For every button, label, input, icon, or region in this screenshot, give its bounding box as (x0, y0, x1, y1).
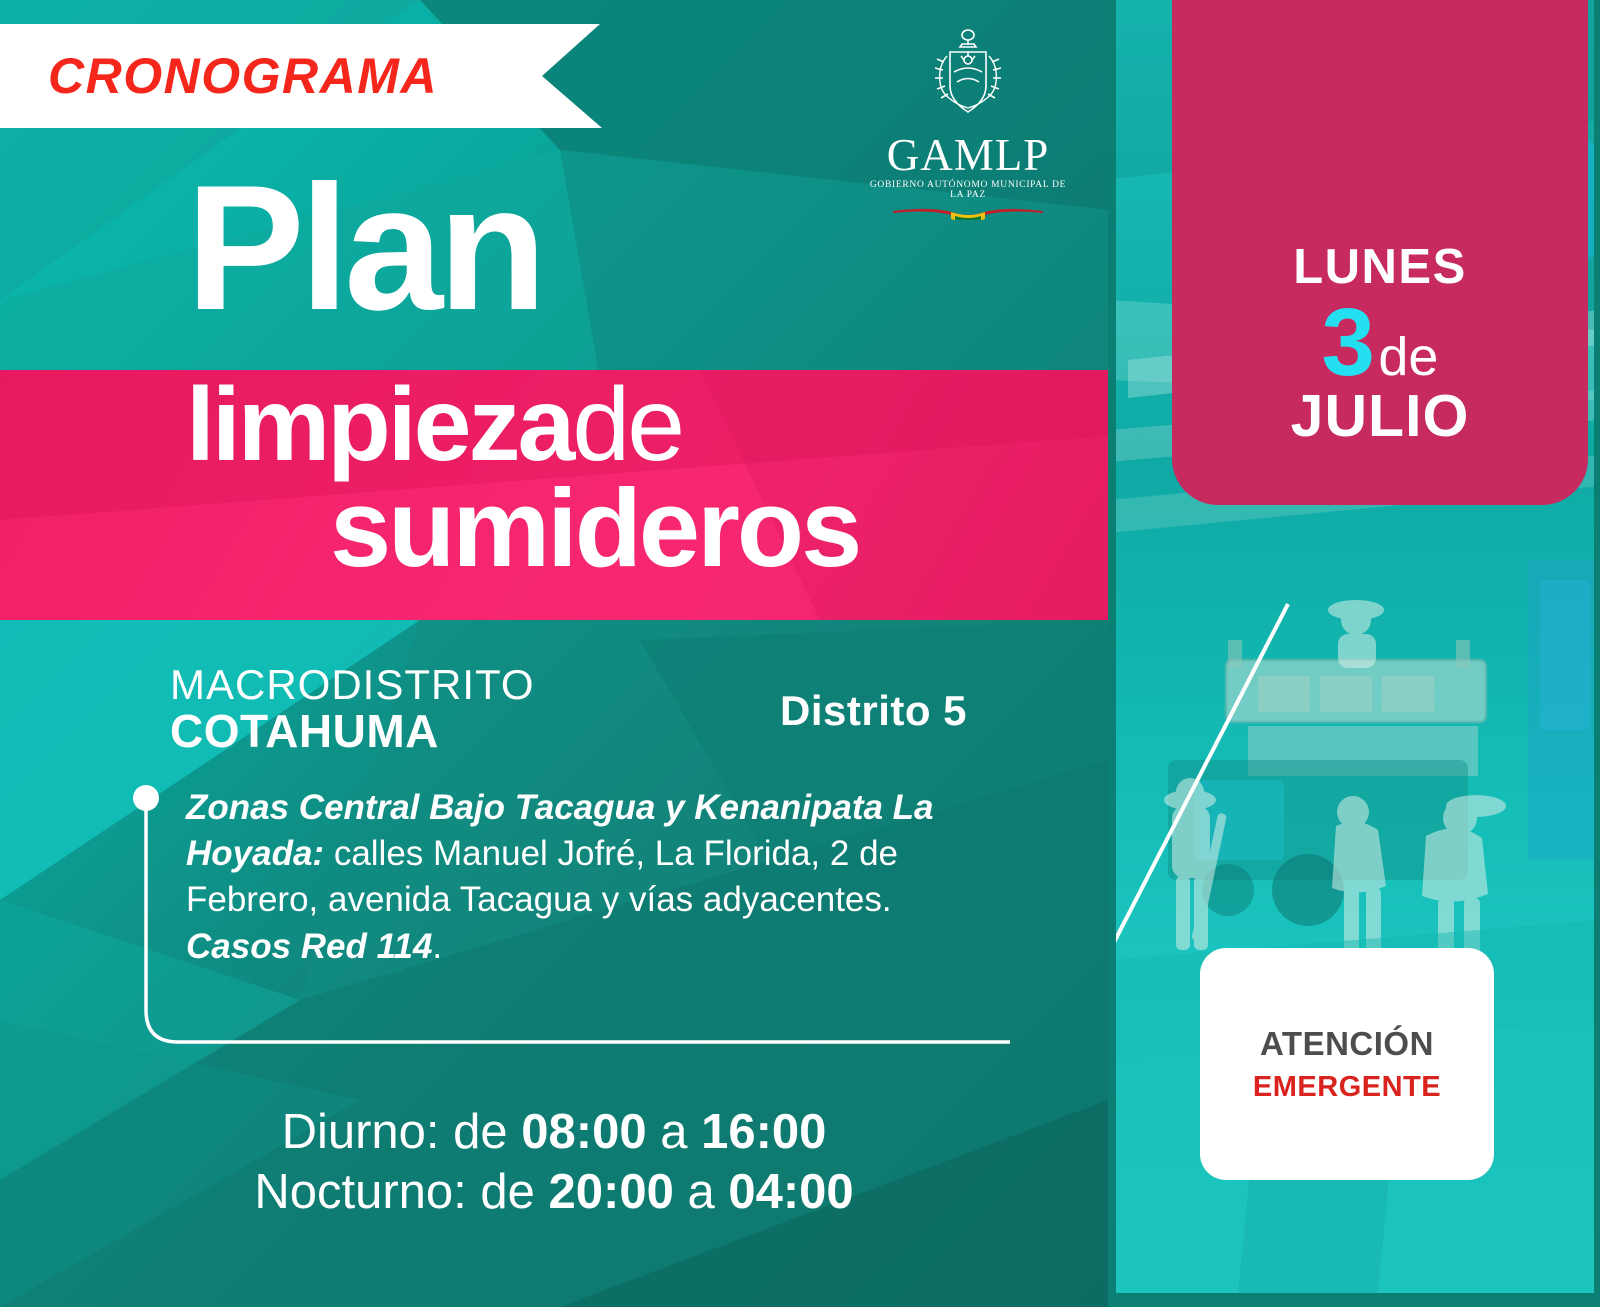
cronograma-label: CRONOGRAMA (48, 47, 438, 105)
zones-description: Zonas Central Bajo Tacagua y Kenanipata … (186, 785, 976, 970)
date-day-number: 3 (1322, 289, 1374, 396)
poster-canvas: CRONOGRAMA (0, 0, 1600, 1307)
title-limpieza-bold: limpieza (186, 367, 572, 483)
macrodistrito-label: MACRODISTRITO (170, 663, 535, 707)
coat-of-arms-icon (920, 26, 1016, 132)
flag-ribbon-icon (893, 202, 1043, 220)
zones-cases-tail: . (432, 927, 442, 966)
title-line-limpieza: limpiezade (186, 376, 1108, 476)
main-panel: CRONOGRAMA (0, 0, 1108, 1307)
schedule-day-end: 16:00 (701, 1105, 826, 1159)
photo-column: Secretaría Municipal de Infraestructura … (1108, 0, 1600, 1307)
callout-diagonal-line (1116, 600, 1308, 960)
gamlp-logo: GAMLP GOBIERNO AUTÓNOMO MUNICIPAL DE LA … (862, 26, 1074, 220)
attention-subtitle: EMERGENTE (1253, 1071, 1441, 1104)
schedule-block: Diurno: de 08:00 a 16:00 Nocturno: de 20… (0, 1103, 1108, 1223)
schedule-night-start: 20:00 (549, 1165, 674, 1219)
schedule-night-end: 04:00 (728, 1165, 853, 1219)
schedule-night: Nocturno: de 20:00 a 04:00 (0, 1163, 1108, 1223)
schedule-day-start: 08:00 (521, 1105, 646, 1159)
schedule-day: Diurno: de 08:00 a 16:00 (0, 1103, 1108, 1163)
distrito-number: Distrito 5 (780, 687, 967, 735)
date-connector: de (1378, 327, 1438, 387)
schedule-night-label: Nocturno: de (254, 1165, 535, 1219)
title-line-sumideros: sumideros (330, 476, 1108, 582)
cronograma-ribbon: CRONOGRAMA (0, 24, 610, 128)
date-weekday: LUNES (1172, 242, 1588, 293)
gamlp-wordmark: GAMLP (862, 134, 1074, 177)
schedule-day-label: Diurno: de (282, 1105, 508, 1159)
title-band-text: limpiezade sumideros (0, 376, 1108, 581)
attention-title: ATENCIÓN (1260, 1025, 1434, 1063)
date-day-row: 3 de (1172, 295, 1588, 391)
gamlp-subtitle: GOBIERNO AUTÓNOMO MUNICIPAL DE LA PAZ (862, 180, 1074, 200)
schedule-day-sep: a (660, 1105, 687, 1159)
schedule-night-sep: a (687, 1165, 714, 1219)
date-month: JULIO (1172, 387, 1588, 446)
zones-cases: Casos Red 114 (186, 927, 432, 966)
date-badge: LUNES 3 de JULIO (1172, 0, 1588, 505)
macrodistrito-name: COTAHUMA (170, 707, 535, 756)
attention-box: ATENCIÓN EMERGENTE (1200, 948, 1494, 1180)
title-de-light: de (572, 367, 682, 483)
macrodistrito-block: MACRODISTRITO COTAHUMA (170, 663, 535, 755)
